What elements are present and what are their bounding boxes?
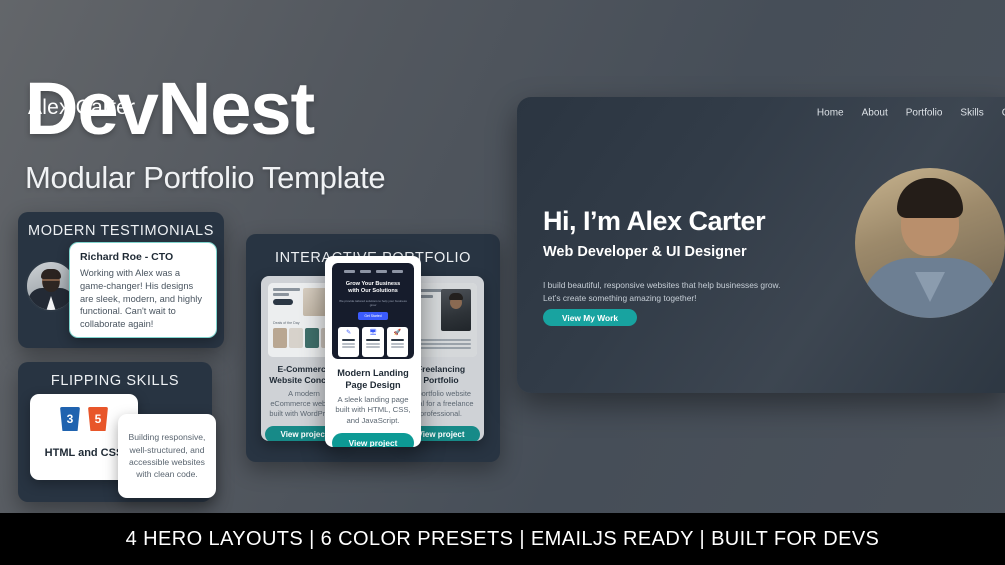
mockup-headline: Grow Your Business [346, 281, 401, 289]
mockup-headline: with Our Solutions [348, 288, 398, 296]
hero-portrait-photo [855, 168, 1005, 318]
mockup-feature-card: 🖥 [362, 327, 383, 357]
mockup-line [273, 293, 289, 296]
mockup-line [342, 343, 355, 345]
avatar-hair [41, 269, 61, 279]
hero-title: Hi, I’m Alex Carter [543, 206, 765, 237]
hero-description-line: I build beautiful, responsive websites t… [543, 279, 780, 292]
mockup-product-tile [305, 328, 319, 348]
mockup-line [366, 343, 379, 345]
mockup-nav-item [344, 270, 355, 273]
brand-block: DevNest Modular Portfolio Template [25, 72, 385, 196]
hero-navbar: Home About Portfolio Skills C [817, 108, 1005, 119]
view-project-button[interactable]: View project [332, 433, 414, 447]
portfolio-card-description: A sleek landing page built with HTML, CS… [325, 395, 421, 426]
feature-bar-text: 4 HERO LAYOUTS | 6 COLOR PRESETS | EMAIL… [126, 528, 880, 551]
html5-icon: 5 [88, 407, 108, 431]
skill-card-back[interactable]: Building responsive, well-structured, an… [118, 414, 216, 498]
feature-bar: 4 HERO LAYOUTS | 6 COLOR PRESETS | EMAIL… [0, 513, 1005, 565]
hero-subtitle: Web Developer & UI Designer [543, 244, 747, 260]
testimonials-panel: MODERN TESTIMONIALS Richard Roe - CTO Wo… [18, 212, 224, 348]
mockup-hero-text [273, 288, 300, 316]
mockup-line [342, 346, 355, 348]
nav-item-skills[interactable]: Skills [960, 108, 983, 119]
nav-item-about[interactable]: About [862, 108, 888, 119]
hero-brand-name: Alex Carter [28, 96, 135, 120]
pencil-icon: ✎ [341, 330, 356, 336]
mockup-line [366, 339, 379, 341]
hero-portrait-hair [897, 178, 963, 218]
testimonial-quote: Working with Alex was a game-changer! Hi… [80, 267, 207, 331]
skill-card-description: Building responsive, well-structured, an… [126, 431, 208, 481]
portfolio-card-thumbnail: Grow Your Business with Our Solutions We… [332, 263, 414, 359]
mockup-cta-button: Get Started [358, 312, 387, 320]
mockup-product-tile [273, 328, 287, 348]
mockup-feature-card: 🚀 [387, 327, 408, 357]
mockup-nav-item [392, 270, 403, 273]
nav-item-portfolio[interactable]: Portfolio [906, 108, 943, 119]
mockup-subheadline: We provide tailored solutions to help yo… [338, 299, 408, 307]
mockup-line [273, 288, 300, 291]
mockup-button [273, 299, 293, 305]
mockup-feature-card: ✎ [338, 327, 359, 357]
css3-icon: 3 [60, 407, 80, 431]
hero-description: I build beautiful, responsive websites t… [543, 279, 780, 305]
mockup-feature-row: ✎ 🖥 🚀 [338, 327, 408, 357]
nav-item-home[interactable]: Home [817, 108, 844, 119]
mockup-line [342, 339, 355, 341]
testimonials-panel-title: MODERN TESTIMONIALS [18, 212, 224, 239]
portfolio-card-featured[interactable]: Grow Your Business with Our Solutions We… [325, 256, 421, 447]
mockup-line [391, 346, 404, 348]
mockup-line [366, 346, 379, 348]
portfolio-panel: INTERACTIVE PORTFOLIO Deals of the Day [246, 234, 500, 462]
view-my-work-button[interactable]: View My Work [543, 309, 637, 326]
portfolio-card-title: Modern Landing Page Design [325, 368, 421, 391]
rocket-icon: 🚀 [390, 330, 405, 336]
landing-page-mockup: Grow Your Business with Our Solutions We… [332, 263, 414, 359]
skills-panel-title: FLIPPING SKILLS [18, 362, 212, 389]
hero-description-line: Let’s create something amazing together! [543, 292, 780, 305]
mockup-product-tile [289, 328, 303, 348]
testimonial-card: Richard Roe - CTO Working with Alex was … [69, 242, 217, 338]
mockup-portrait [441, 289, 471, 331]
page-subtitle: Modular Portfolio Template [25, 160, 385, 196]
mockup-nav-item [376, 270, 387, 273]
skills-panel: FLIPPING SKILLS 3 5 HTML and CSS Buildin… [18, 362, 212, 502]
mockup-line [391, 339, 404, 341]
mockup-navbar [344, 270, 403, 273]
mockup-nav-item [360, 270, 371, 273]
mockup-portrait-hair [449, 293, 463, 300]
testimonial-author: Richard Roe - CTO [80, 251, 207, 263]
mockup-line [391, 343, 404, 345]
monitor-icon: 🖥 [365, 330, 380, 336]
